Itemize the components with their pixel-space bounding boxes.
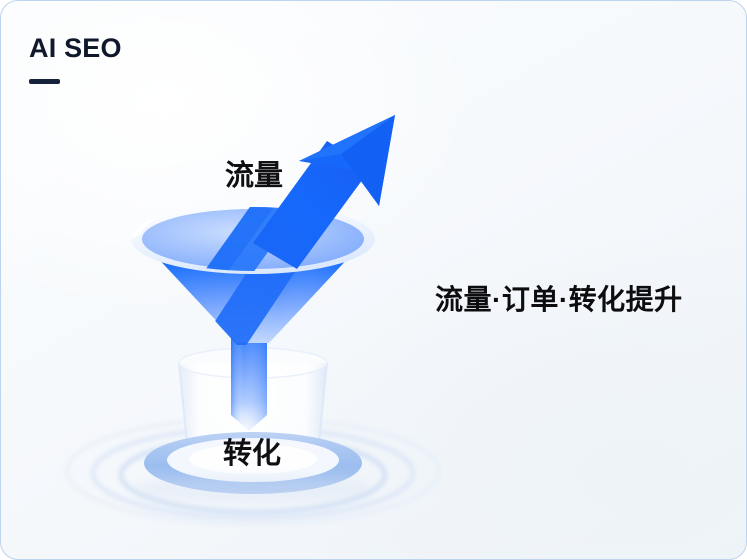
funnel-label-traffic: 流量 [225,152,283,194]
title-underline-accent [29,79,60,84]
funnel-label-conversion: 转化 [223,430,281,472]
page-title-text: AI SEO [29,35,122,62]
headline-text: 流量·订单·转化提升 [435,278,683,318]
page-title: AI SEO [29,35,122,84]
funnel-spout [231,331,267,431]
seo-promo-card: AI SEO [0,0,747,560]
